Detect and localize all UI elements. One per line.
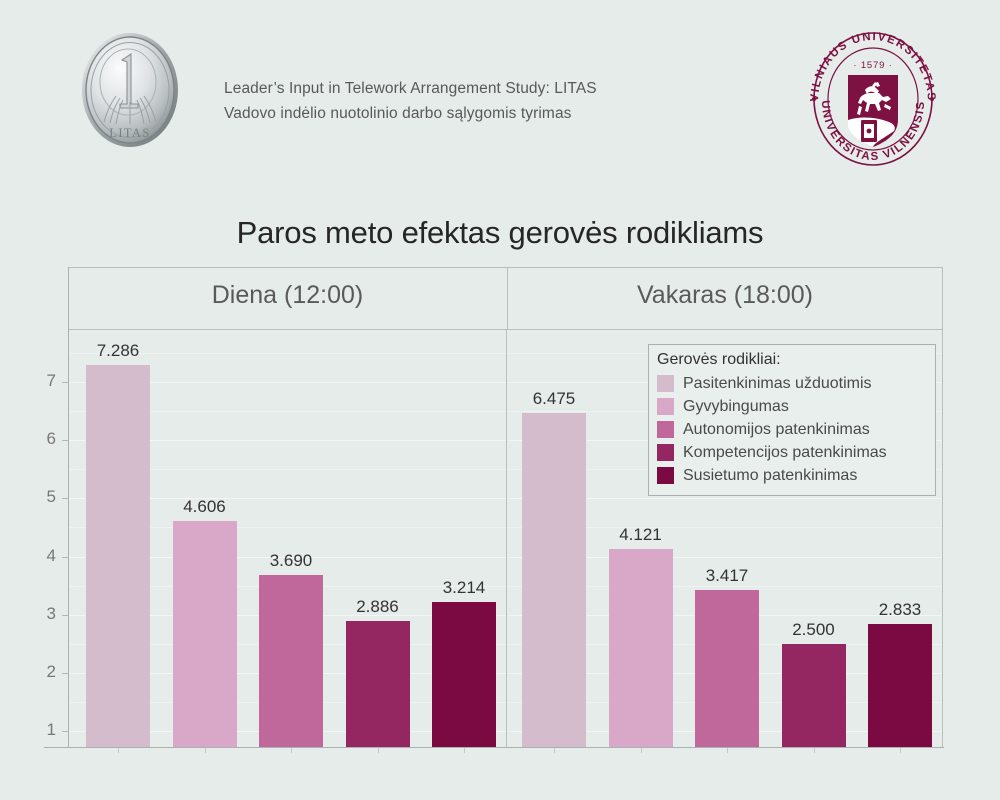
bar <box>86 365 150 747</box>
bar <box>173 521 237 747</box>
y-tick-label: 2 <box>26 662 56 682</box>
legend-item[interactable]: Autonomijos patenkinimas <box>657 418 927 441</box>
legend-swatch <box>657 467 674 484</box>
bar-value-label: 6.475 <box>509 389 599 409</box>
y-tick-label: 3 <box>26 604 56 624</box>
legend-item-label: Kompetencijos patenkinimas <box>683 444 887 462</box>
bar <box>259 575 323 747</box>
y-tick-mark <box>62 615 68 616</box>
legend-swatch <box>657 375 674 392</box>
legend-item-label: Gyvybingumas <box>683 398 789 416</box>
facet-label-vakaras: Vakaras (18:00) <box>508 281 942 310</box>
y-tick-mark <box>62 673 68 674</box>
legend-item-label: Pasitenkinimas užduotimis <box>683 375 872 393</box>
bar-value-label: 3.690 <box>246 551 336 571</box>
legend-title: Gerovės rodikliai: <box>657 351 927 369</box>
legend-items: Pasitenkinimas užduotimisGyvybingumasAut… <box>657 372 927 487</box>
y-tick-label: 1 <box>26 720 56 740</box>
legend-item-label: Susietumo patenkinimas <box>683 467 857 485</box>
bar <box>695 590 759 747</box>
facet-strip-vakaras: Vakaras (18:00) <box>508 267 943 330</box>
legend-item[interactable]: Susietumo patenkinimas <box>657 464 927 487</box>
x-tick-mark <box>118 748 119 753</box>
bar <box>609 549 673 747</box>
x-tick-mark <box>464 748 465 753</box>
legend-item[interactable]: Gyvybingumas <box>657 395 927 418</box>
y-tick-mark <box>62 557 68 558</box>
bar-value-label: 2.500 <box>769 620 859 640</box>
y-tick-mark <box>62 382 68 383</box>
legend-item[interactable]: Kompetencijos patenkinimas <box>657 441 927 464</box>
bar-value-label: 4.121 <box>596 525 686 545</box>
legend: Gerovės rodikliai: Pasitenkinimas užduot… <box>648 344 936 496</box>
y-tick-label: 5 <box>26 487 56 507</box>
bar <box>868 624 932 747</box>
bar-value-label: 3.417 <box>682 566 772 586</box>
legend-item[interactable]: Pasitenkinimas užduotimis <box>657 372 927 395</box>
bar-value-label: 2.833 <box>855 600 943 620</box>
bar <box>432 602 496 747</box>
panel-diena: 7.2864.6063.6902.8863.214 <box>68 330 507 747</box>
y-axis-line <box>68 267 69 747</box>
legend-item-label: Autonomijos patenkinimas <box>683 421 870 439</box>
y-tick-label: 4 <box>26 546 56 566</box>
y-tick-mark <box>62 440 68 441</box>
x-tick-mark <box>205 748 206 753</box>
x-tick-mark <box>291 748 292 753</box>
x-tick-mark <box>727 748 728 753</box>
bar <box>346 621 410 747</box>
legend-swatch <box>657 444 674 461</box>
x-tick-mark <box>814 748 815 753</box>
x-tick-mark <box>378 748 379 753</box>
facet-strip-diena: Diena (12:00) <box>68 267 508 330</box>
x-axis-line <box>44 747 944 748</box>
y-tick-mark <box>62 731 68 732</box>
bar-value-label: 2.886 <box>333 597 423 617</box>
y-tick-label: 7 <box>26 371 56 391</box>
chart-plot: Diena (12:00) Vakaras (18:00) 7.2864.606… <box>0 0 1000 800</box>
bar-value-label: 7.286 <box>73 341 163 361</box>
bar <box>522 413 586 747</box>
y-tick-label: 6 <box>26 429 56 449</box>
x-tick-mark <box>554 748 555 753</box>
facet-label-diena: Diena (12:00) <box>68 281 507 310</box>
legend-swatch <box>657 398 674 415</box>
y-tick-mark <box>62 498 68 499</box>
bar-value-label: 4.606 <box>160 497 250 517</box>
x-tick-mark <box>900 748 901 753</box>
bar-value-label: 3.214 <box>419 578 507 598</box>
legend-swatch <box>657 421 674 438</box>
bar <box>782 644 846 747</box>
x-tick-mark <box>641 748 642 753</box>
